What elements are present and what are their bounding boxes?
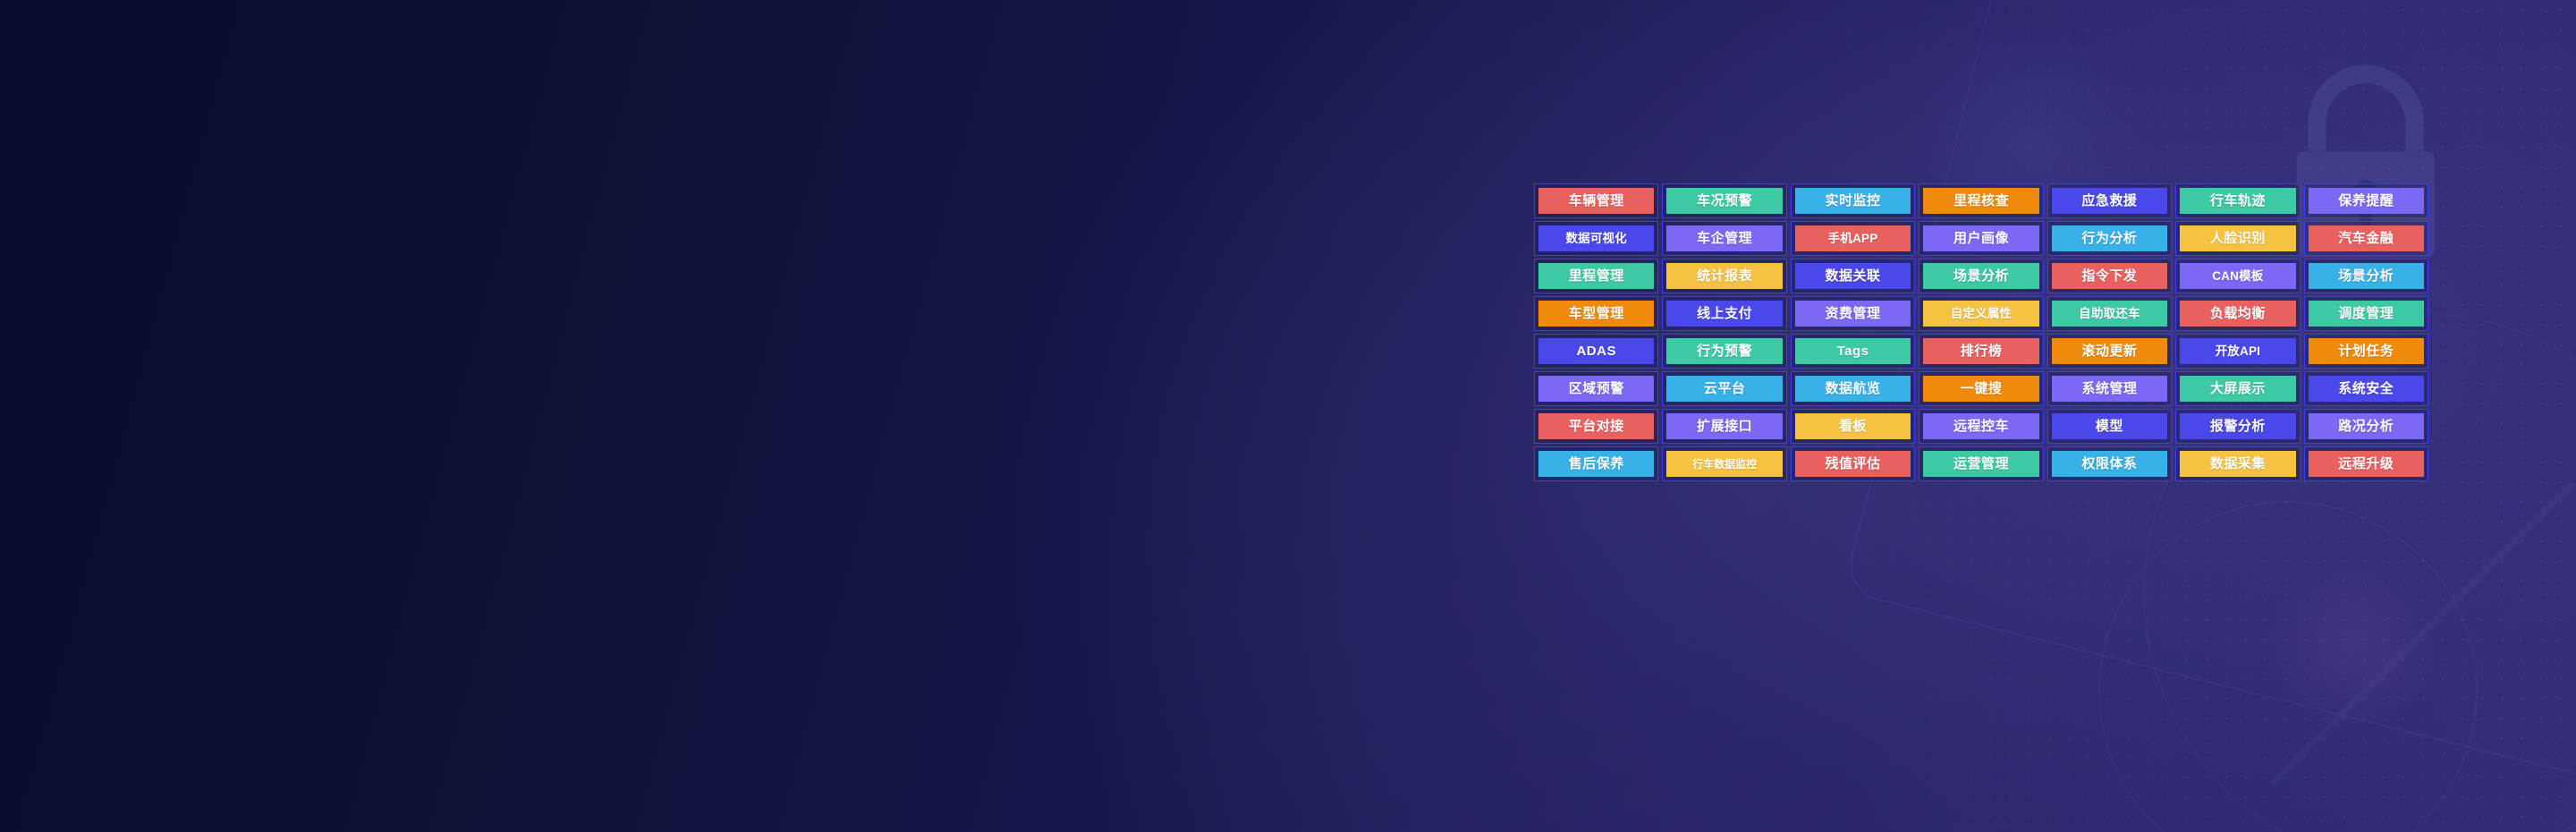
feature-tile-label: 保养提醒 — [2309, 188, 2424, 214]
feature-tile-label: 自助取还车 — [2052, 301, 2167, 327]
feature-tile-label: 里程核查 — [1923, 188, 2038, 214]
feature-tile-label: 行车数据监控 — [1666, 451, 1782, 477]
feature-tile-label: 一键搜 — [1923, 376, 2038, 402]
feature-tile[interactable]: 应急救援 — [2047, 183, 2172, 218]
background-glow-lower — [2263, 555, 2442, 734]
feature-tile[interactable]: 排行榜 — [1919, 334, 2043, 369]
feature-tile-label: 资费管理 — [1795, 301, 1911, 327]
feature-tile[interactable]: 保养提醒 — [2304, 183, 2428, 218]
feature-tile-label: 数据航览 — [1795, 376, 1911, 402]
feature-tile[interactable]: 看板 — [1791, 409, 1915, 444]
feature-tile-label: 运营管理 — [1923, 451, 2038, 477]
feature-tile[interactable]: 数据航览 — [1791, 371, 1915, 406]
feature-tile-label: 大屏展示 — [2180, 376, 2295, 402]
feature-tile-label: 统计报表 — [1666, 263, 1782, 289]
feature-tile-label: 平台对接 — [1538, 413, 1654, 439]
feature-tile-label: 场景分析 — [1923, 263, 2038, 289]
feature-tile[interactable]: 场景分析 — [2304, 259, 2428, 293]
feature-tile-label: ADAS — [1538, 338, 1654, 364]
feature-tile[interactable]: 报警分析 — [2175, 409, 2300, 444]
feature-tile-label: 计划任务 — [2309, 338, 2424, 364]
feature-tile-label: 车企管理 — [1666, 225, 1782, 251]
feature-tile[interactable]: 线上支付 — [1662, 296, 1786, 331]
feature-tile-grid: 车辆管理车况预警实时监控里程核查应急救援行车轨迹保养提醒数据可视化车企管理手机A… — [1534, 183, 2428, 481]
feature-tile[interactable]: Tags — [1791, 334, 1915, 369]
feature-tile[interactable]: 手机APP — [1791, 221, 1915, 256]
feature-tile-label: 系统管理 — [2052, 376, 2167, 402]
feature-tile-label: 远程升级 — [2309, 451, 2424, 477]
feature-tile[interactable]: 行车数据监控 — [1662, 446, 1786, 481]
feature-tile-label: 行为分析 — [2052, 225, 2167, 251]
feature-tile[interactable]: 区域预警 — [1534, 371, 1658, 406]
feature-tile[interactable]: 实时监控 — [1791, 183, 1915, 218]
feature-tile-label: 场景分析 — [2309, 263, 2424, 289]
feature-tile-label: 自定义属性 — [1923, 301, 2038, 327]
feature-tile-label: 区域预警 — [1538, 376, 1654, 402]
feature-tile-label: 线上支付 — [1666, 301, 1782, 327]
feature-tile-label: 车型管理 — [1538, 301, 1654, 327]
feature-tile[interactable]: 系统安全 — [2304, 371, 2428, 406]
feature-tile[interactable]: 车况预警 — [1662, 183, 1786, 218]
feature-tile[interactable]: 自定义属性 — [1919, 296, 2043, 331]
feature-tile[interactable]: 车型管理 — [1534, 296, 1658, 331]
feature-tile-label: 行为预警 — [1666, 338, 1782, 364]
feature-tile-label: 数据可视化 — [1538, 225, 1654, 251]
feature-tile[interactable]: 计划任务 — [2304, 334, 2428, 369]
screen-root: 车辆管理车况预警实时监控里程核查应急救援行车轨迹保养提醒数据可视化车企管理手机A… — [0, 0, 2576, 832]
feature-tile-label: 人脸识别 — [2180, 225, 2295, 251]
feature-tile-label: 调度管理 — [2309, 301, 2424, 327]
feature-tile-label: 里程管理 — [1538, 263, 1654, 289]
feature-tile[interactable]: 统计报表 — [1662, 259, 1786, 293]
feature-tile-label: 报警分析 — [2180, 413, 2295, 439]
feature-tile[interactable]: 车企管理 — [1662, 221, 1786, 256]
feature-tile-label: 负载均衡 — [2180, 301, 2295, 327]
feature-tile-label: 系统安全 — [2309, 376, 2424, 402]
feature-tile-label: 远程控车 — [1923, 413, 2038, 439]
feature-tile[interactable]: 人脸识别 — [2175, 221, 2300, 256]
feature-tile-label: 实时监控 — [1795, 188, 1911, 214]
feature-tile[interactable]: 行为分析 — [2047, 221, 2172, 256]
feature-tile[interactable]: 运营管理 — [1919, 446, 2043, 481]
feature-tile[interactable]: 汽车金融 — [2304, 221, 2428, 256]
feature-tile-label: Tags — [1795, 338, 1911, 364]
feature-tile[interactable]: 一键搜 — [1919, 371, 2043, 406]
feature-tile[interactable]: 系统管理 — [2047, 371, 2172, 406]
feature-tile[interactable]: 数据可视化 — [1534, 221, 1658, 256]
feature-tile[interactable]: 滚动更新 — [2047, 334, 2172, 369]
feature-tile-label: 排行榜 — [1923, 338, 2038, 364]
feature-tile-label: 数据关联 — [1795, 263, 1911, 289]
feature-tile[interactable]: ADAS — [1534, 334, 1658, 369]
feature-tile[interactable]: 车辆管理 — [1534, 183, 1658, 218]
feature-tile[interactable]: 远程升级 — [2304, 446, 2428, 481]
feature-tile[interactable]: 里程管理 — [1534, 259, 1658, 293]
feature-tile[interactable]: 路况分析 — [2304, 409, 2428, 444]
feature-tile-label: 指令下发 — [2052, 263, 2167, 289]
feature-tile-label: 扩展接口 — [1666, 413, 1782, 439]
feature-tile[interactable]: 行车轨迹 — [2175, 183, 2300, 218]
feature-tile-label: 车辆管理 — [1538, 188, 1654, 214]
feature-tile-label: 模型 — [2052, 413, 2167, 439]
feature-tile[interactable]: 里程核查 — [1919, 183, 2043, 218]
feature-tile[interactable]: CAN模板 — [2175, 259, 2300, 293]
feature-tile[interactable]: 平台对接 — [1534, 409, 1658, 444]
feature-tile[interactable]: 用户画像 — [1919, 221, 2043, 256]
feature-tile-label: 滚动更新 — [2052, 338, 2167, 364]
feature-tile[interactable]: 数据采集 — [2175, 446, 2300, 481]
feature-tile-label: 应急救援 — [2052, 188, 2167, 214]
feature-tile[interactable]: 残值评估 — [1791, 446, 1915, 481]
feature-tile[interactable]: 远程控车 — [1919, 409, 2043, 444]
feature-tile-label: 看板 — [1795, 413, 1911, 439]
feature-tile[interactable]: 自助取还车 — [2047, 296, 2172, 331]
feature-tile[interactable]: 开放API — [2175, 334, 2300, 369]
feature-tile[interactable]: 场景分析 — [1919, 259, 2043, 293]
feature-tile-label: 行车轨迹 — [2180, 188, 2295, 214]
feature-tile-label: 用户画像 — [1923, 225, 2038, 251]
feature-tile[interactable]: 大屏展示 — [2175, 371, 2300, 406]
feature-tile-label: 残值评估 — [1795, 451, 1911, 477]
feature-tile-label: 车况预警 — [1666, 188, 1782, 214]
feature-tile[interactable]: 调度管理 — [2304, 296, 2428, 331]
feature-tile-label: 数据采集 — [2180, 451, 2295, 477]
feature-tile[interactable]: 资费管理 — [1791, 296, 1915, 331]
feature-tile-label: 路况分析 — [2309, 413, 2424, 439]
feature-tile[interactable]: 云平台 — [1662, 371, 1786, 406]
feature-tile[interactable]: 指令下发 — [2047, 259, 2172, 293]
feature-tile-label: CAN模板 — [2180, 263, 2295, 289]
feature-tile[interactable]: 行为预警 — [1662, 334, 1786, 369]
feature-tile[interactable]: 售后保养 — [1534, 446, 1658, 481]
feature-tile[interactable]: 模型 — [2047, 409, 2172, 444]
feature-tile-label: 汽车金融 — [2309, 225, 2424, 251]
feature-tile-label: 云平台 — [1666, 376, 1782, 402]
feature-tile[interactable]: 数据关联 — [1791, 259, 1915, 293]
feature-tile-label: 手机APP — [1795, 225, 1911, 251]
feature-tile[interactable]: 扩展接口 — [1662, 409, 1786, 444]
feature-tile[interactable]: 负载均衡 — [2175, 296, 2300, 331]
feature-tile-label: 权限体系 — [2052, 451, 2167, 477]
feature-tile-label: 售后保养 — [1538, 451, 1654, 477]
feature-tile[interactable]: 权限体系 — [2047, 446, 2172, 481]
feature-tile-label: 开放API — [2180, 338, 2295, 364]
